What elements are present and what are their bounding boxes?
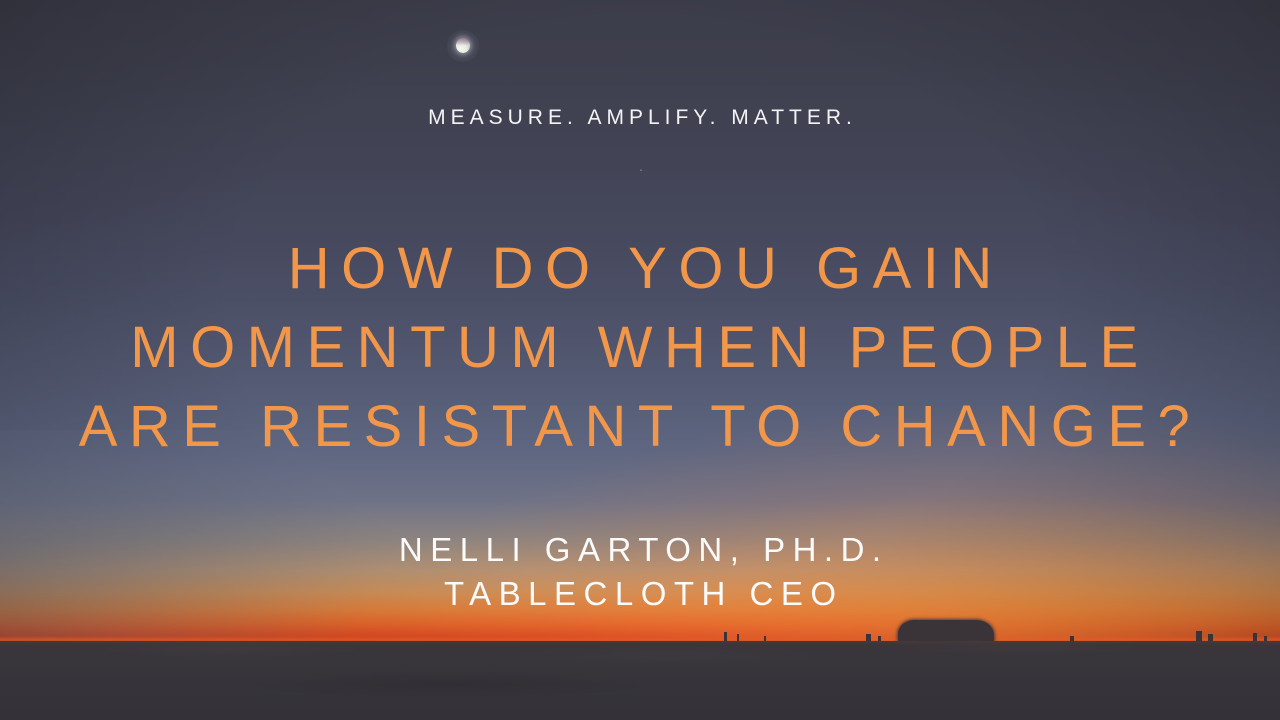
brand-tagline: MEASURE. AMPLIFY. MATTER.: [0, 106, 1280, 130]
presentation-slide: MEASURE. AMPLIFY. MATTER. . HOW DO YOU G…: [0, 0, 1280, 720]
slide-headline: HOW DO YOU GAIN MOMENTUM WHEN PEOPLE ARE…: [64, 229, 1216, 466]
speaker-attribution: NELLI GARTON, PH.D. TABLECLOTH CEO: [0, 528, 1280, 616]
speaker-name: NELLI GARTON, PH.D.: [399, 531, 889, 568]
speaker-role: TABLECLOTH CEO: [0, 572, 1280, 616]
tagline-divider-dot: .: [0, 159, 1280, 174]
slide-content: MEASURE. AMPLIFY. MATTER. . HOW DO YOU G…: [0, 0, 1280, 720]
